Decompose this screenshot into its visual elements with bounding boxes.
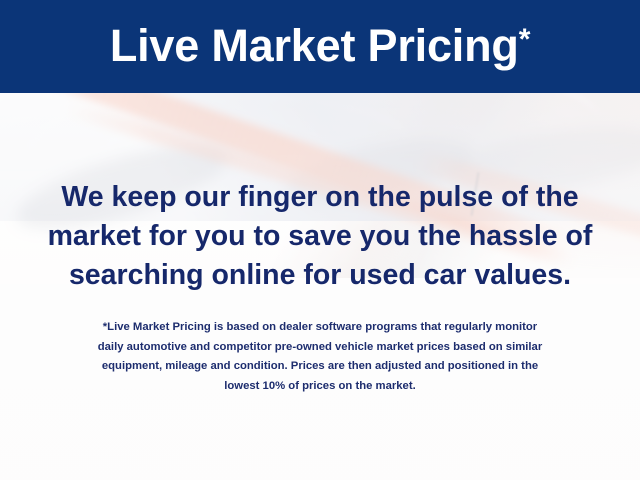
footnote-block: *Live Market Pricing is based on dealer … [0, 318, 640, 396]
page-title-text: Live Market Pricing [110, 20, 519, 71]
headline-line-3: searching online for used car values. [20, 256, 620, 295]
page-title: Live Market Pricing* [110, 23, 530, 70]
page-title-asterisk: * [519, 23, 530, 56]
headline-block: We keep our finger on the pulse of the m… [0, 178, 640, 295]
live-market-pricing-banner: Live Market Pricing* We keep our finger … [0, 0, 640, 480]
header-bar: Live Market Pricing* [0, 0, 640, 93]
footnote-line-3: equipment, mileage and condition. Prices… [22, 357, 618, 377]
headline-line-1: We keep our finger on the pulse of the [20, 178, 620, 217]
headline-line-2: market for you to save you the hassle of [20, 217, 620, 256]
footnote-line-1: *Live Market Pricing is based on dealer … [22, 318, 618, 338]
footnote-line-4: lowest 10% of prices on the market. [22, 377, 618, 397]
footnote-line-2: daily automotive and competitor pre-owne… [22, 338, 618, 358]
